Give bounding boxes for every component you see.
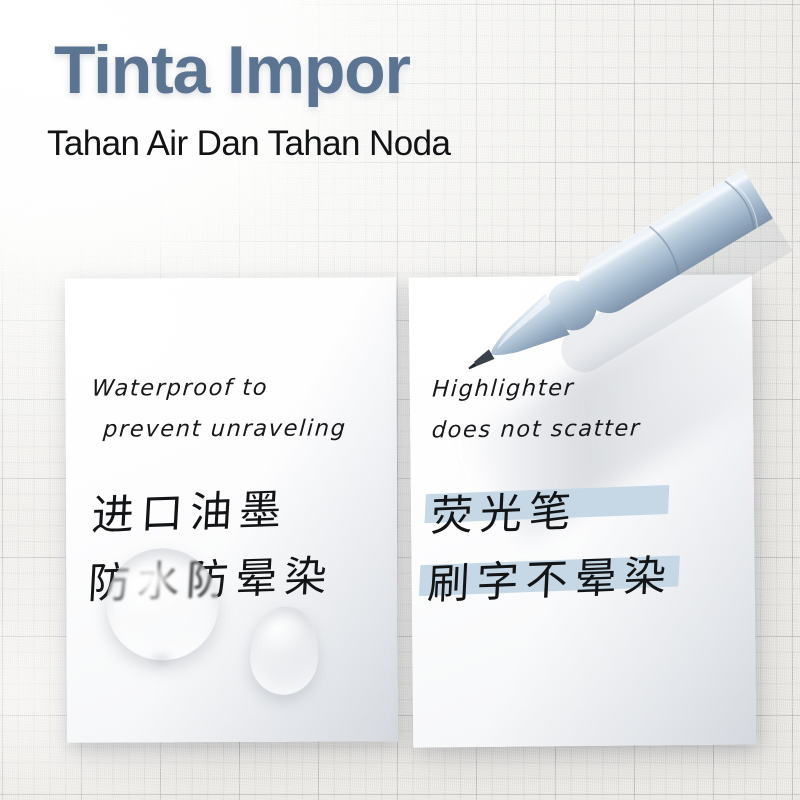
handwriting-english-left: Waterproof to prevent unraveling (88, 367, 351, 450)
right-chinese-line-1: 荧光笔 (429, 474, 678, 551)
right-chinese-line-2: 刷字不晕染 (426, 542, 675, 619)
handwriting-chinese-right: 荧光笔 刷字不晕染 (426, 474, 678, 619)
left-english-line-2: prevent unraveling (102, 408, 348, 450)
notebook-page-right: Highlighter does not scatter 荧光笔 刷字不晕染 (409, 274, 756, 747)
water-bead-droplet (106, 548, 218, 660)
right-chinese-text-1: 荧光笔 (430, 486, 580, 541)
water-teardrop (247, 604, 322, 697)
left-english-line-1: Waterproof to (91, 375, 269, 402)
right-english-line-1: Highlighter (432, 375, 576, 402)
left-chinese-line-1: 进口油墨 (90, 474, 339, 550)
promo-banner: Tinta Impor Tahan Air Dan Tahan Noda Wat… (0, 0, 800, 800)
right-english-line-2: does not scatter (431, 408, 642, 451)
right-chinese-text-2: 刷字不晕染 (426, 551, 674, 609)
handwriting-english-right: Highlighter does not scatter (429, 367, 645, 451)
page-subtitle: Tahan Air Dan Tahan Noda (47, 126, 450, 161)
notebook-page-left: Waterproof to prevent unraveling 进口油墨 防水… (65, 277, 398, 742)
page-title: Tinta Impor (54, 36, 410, 104)
